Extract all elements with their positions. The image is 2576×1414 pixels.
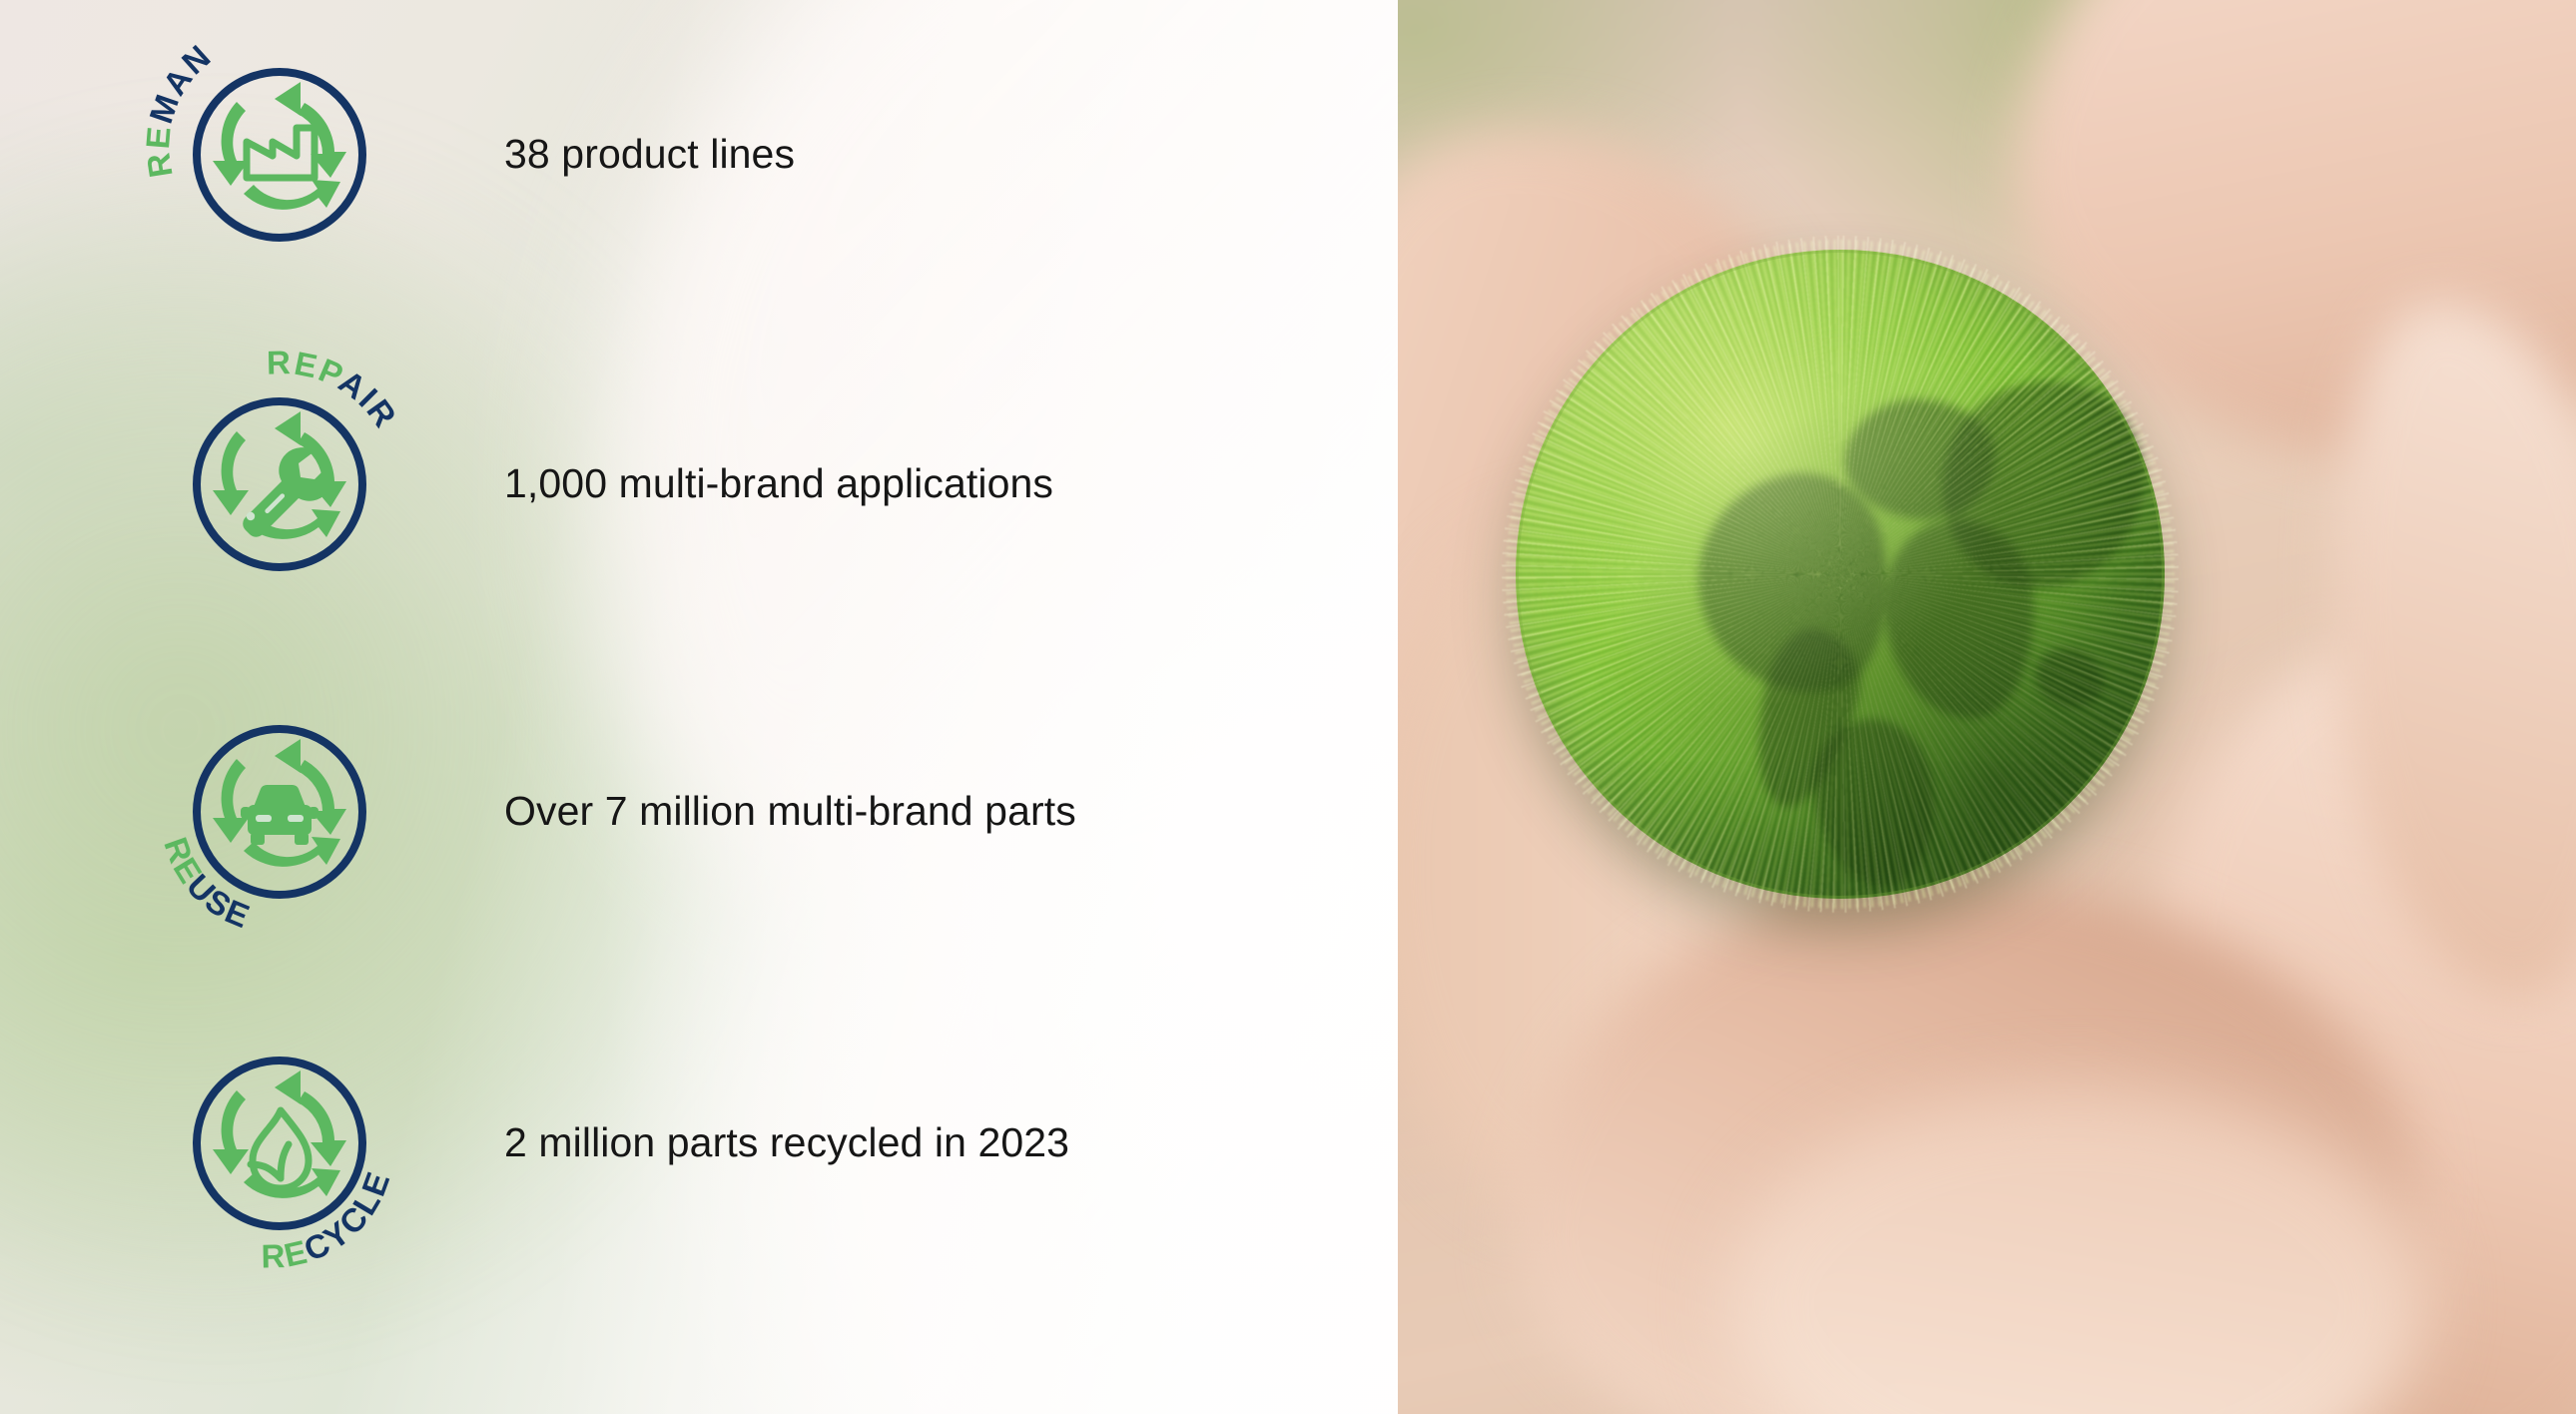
- list-item-repair[interactable]: REPAIR 1,000 multi-brand applications: [0, 359, 1398, 609]
- reuse-stat-text: Over 7 million multi-brand parts: [504, 787, 1076, 836]
- repair-icon-graphic: REPAIR: [155, 359, 404, 609]
- reman-stat-text: 38 product lines: [504, 130, 795, 179]
- recycle-icon-graphic: RECYCLE: [155, 1019, 404, 1268]
- reman-icon-graphic: REMAN: [155, 30, 404, 280]
- reman-badge[interactable]: REMAN: [155, 30, 404, 280]
- globe-rim: [1516, 250, 2165, 899]
- reuse-badge[interactable]: REUSE: [155, 687, 404, 937]
- list-item-reuse[interactable]: REUSE Over 7 million multi-brand parts: [0, 687, 1398, 937]
- grass-globe: [1516, 250, 2165, 899]
- list-item-recycle[interactable]: RECYCLE 2 million parts recycled in 2023: [0, 1019, 1398, 1268]
- globe-photo: [1398, 0, 2576, 1414]
- slide-canvas: REMAN 38 product lines: [0, 0, 2576, 1414]
- recycle-badge[interactable]: RECYCLE: [155, 1019, 404, 1268]
- repair-badge[interactable]: REPAIR: [155, 359, 404, 609]
- list-item-reman[interactable]: REMAN 38 product lines: [0, 30, 1398, 280]
- reuse-icon-graphic: REUSE: [155, 687, 404, 937]
- recycle-stat-text: 2 million parts recycled in 2023: [504, 1118, 1069, 1167]
- circular-economy-list: REMAN 38 product lines: [0, 0, 1398, 1414]
- repair-stat-text: 1,000 multi-brand applications: [504, 459, 1053, 508]
